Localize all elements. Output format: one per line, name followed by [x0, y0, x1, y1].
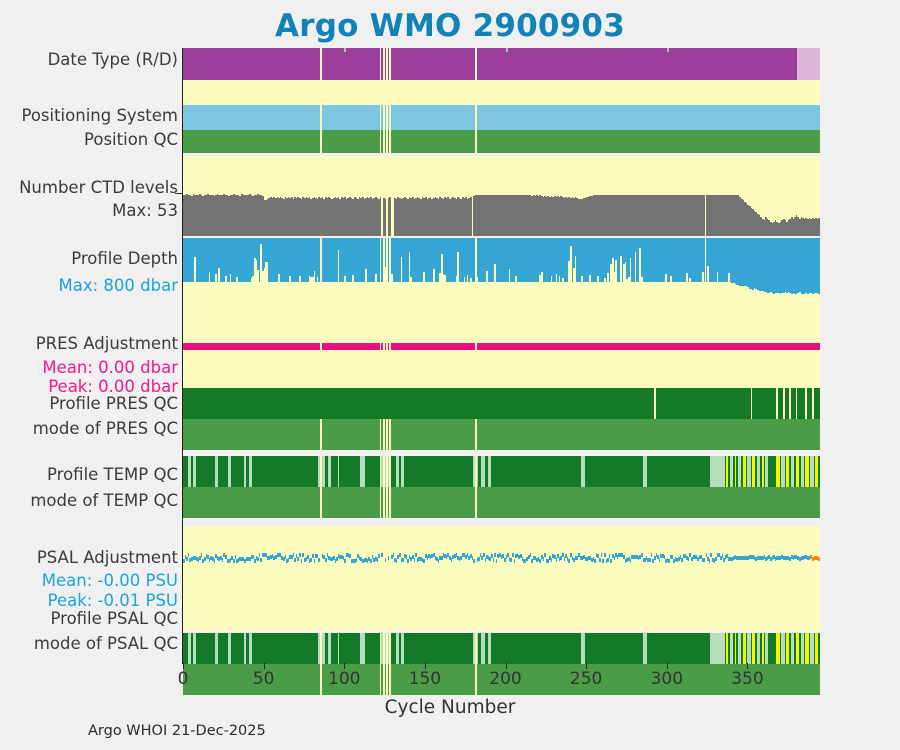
psal-adjustment-point	[496, 559, 498, 563]
x-tick-mark	[506, 663, 507, 669]
gridline	[667, 48, 669, 663]
x-tick-mark	[183, 663, 184, 669]
band-segment	[404, 456, 473, 487]
x-tick-mark	[667, 663, 668, 669]
band-segment	[388, 487, 390, 518]
band-segment	[381, 343, 383, 350]
band-segment	[322, 343, 380, 350]
band-segment	[339, 456, 360, 487]
psal-adjustment-point	[568, 559, 570, 563]
psal-adjustment-point	[514, 559, 516, 563]
x-tick-mark	[425, 663, 426, 669]
psal-adjustment-point	[659, 558, 661, 562]
profile-pres-qc-band	[183, 388, 820, 419]
psal-adjustment-point	[818, 557, 820, 561]
date-type-band	[183, 48, 820, 80]
psal-adjustment-point	[651, 553, 653, 557]
profile-depth-bar	[385, 238, 387, 267]
band-segment	[365, 633, 380, 664]
band-segment	[318, 633, 320, 664]
band-segment	[388, 343, 390, 350]
band-segment	[710, 633, 725, 664]
x-tick-label: 0	[178, 669, 189, 689]
band-segment	[388, 456, 390, 487]
psal-adjustment-point	[609, 554, 611, 558]
psal-adjustment-point	[233, 559, 235, 563]
band-segment	[322, 105, 380, 130]
psal-adjustment-point	[710, 553, 712, 557]
psal-adjustment-point	[407, 559, 409, 563]
label-pres-adjustment: PRES Adjustment	[36, 335, 178, 352]
profile-depth-bar	[381, 238, 383, 282]
label-number-ctd-levels: Number CTD levels	[19, 179, 178, 196]
band-segment	[183, 105, 320, 130]
band-segment	[391, 487, 475, 518]
psal-adjustment-point	[214, 559, 216, 563]
band-segment	[477, 130, 820, 153]
band-segment	[477, 664, 820, 695]
band-segment	[391, 130, 475, 153]
psal-adjustment-point	[399, 553, 401, 557]
band-segment	[231, 633, 244, 664]
band-segment	[183, 664, 320, 695]
band-segment	[322, 130, 380, 153]
band-segment	[381, 487, 383, 518]
psal-adjustment-point	[510, 558, 512, 562]
psal-adjustment-point	[604, 553, 606, 557]
x-axis-label: Cycle Number	[0, 697, 900, 718]
psal-adjustment-point	[325, 558, 327, 562]
psal-adjustment-point	[186, 557, 188, 561]
band-segment	[381, 419, 383, 450]
psal-adjustment-point	[415, 553, 417, 557]
label-mode-psal-qc: mode of PSAL QC	[34, 635, 178, 652]
psal-adjustment-point	[652, 559, 654, 563]
band-segment	[183, 130, 320, 153]
psal-adjustment-point	[594, 559, 596, 563]
band-segment	[391, 105, 475, 130]
band-segment	[388, 105, 390, 130]
band-segment	[752, 388, 776, 419]
psal-adjustment-point	[610, 559, 612, 563]
x-tick-label: 100	[328, 669, 360, 689]
psal-adjustment-point	[599, 558, 601, 562]
band-segment	[391, 343, 475, 350]
band-segment	[385, 487, 386, 518]
psal-adjustment-point	[564, 557, 566, 561]
psal-adjustment-point	[183, 559, 185, 563]
positioning-system-band	[183, 105, 820, 130]
psal-adjustment-point	[294, 558, 296, 562]
band-segment	[477, 105, 820, 130]
psal-adjustment-point	[222, 558, 224, 562]
psal-adjustment-point	[393, 553, 395, 557]
label-date-type: Date Type (R/D)	[48, 51, 178, 68]
label-position-qc: Position QC	[84, 131, 178, 148]
band-segment	[388, 130, 390, 153]
psal-adjustment-point	[544, 553, 546, 557]
x-tick-label: 150	[409, 669, 441, 689]
x-tick-mark	[344, 663, 345, 669]
psal-adjustment-point	[483, 553, 485, 557]
label-profile-pres-qc: Profile PRES QC	[49, 395, 178, 412]
profile-depth-bar	[388, 238, 390, 282]
psal-adjustment-point	[307, 555, 309, 559]
label-depth-max: Max: 800 dbar	[59, 277, 179, 294]
psal-adjustment-point	[310, 558, 312, 562]
psal-adjustment-point	[388, 556, 390, 560]
profile-depth-bar	[378, 238, 380, 282]
psal-adjustment-point	[551, 558, 553, 562]
band-segment	[768, 456, 776, 487]
band-segment	[385, 664, 386, 695]
ctd-level-bar	[389, 197, 391, 236]
x-tick-label: 350	[731, 669, 763, 689]
band-segment	[477, 419, 820, 450]
band-segment	[656, 388, 751, 419]
psal-adjustment-point	[402, 558, 404, 562]
band-segment	[381, 456, 383, 487]
ctd-level-bar	[385, 199, 387, 237]
psal-adjustment-point	[356, 558, 358, 562]
band-segment	[322, 419, 380, 450]
label-profile-depth: Profile Depth	[71, 250, 178, 267]
band-segment	[477, 487, 820, 518]
x-tick-mark	[264, 663, 265, 669]
ctd-level-bar	[470, 197, 472, 236]
band-segment	[197, 388, 654, 419]
band-segment	[473, 456, 475, 487]
band-segment	[477, 48, 798, 80]
band-segment	[218, 456, 228, 487]
psal-adjustment-point	[494, 553, 496, 557]
profile-depth-bar	[473, 238, 475, 282]
band-segment	[322, 487, 380, 518]
panel-temp-qc	[183, 456, 820, 518]
gridline	[344, 48, 346, 663]
profile-psal-qc-band	[183, 633, 820, 664]
psal-adjustment-point	[385, 558, 387, 562]
band-segment	[196, 633, 215, 664]
panel-date-position	[183, 48, 820, 153]
band-segment	[252, 456, 318, 487]
band-segment	[183, 343, 320, 350]
psal-adjustment-point	[201, 553, 203, 557]
psal-adjustment-point	[423, 559, 425, 563]
psal-adjustment-point	[318, 558, 320, 562]
band-segment	[183, 48, 320, 80]
band-segment	[391, 419, 475, 450]
psal-adjustment-point	[681, 558, 683, 562]
band-segment	[196, 456, 215, 487]
profile-temp-qc-band	[183, 456, 820, 487]
psal-adjustment-point	[602, 559, 604, 563]
band-segment	[381, 664, 383, 695]
label-pres-peak: Peak: 0.00 dbar	[48, 378, 178, 395]
psal-adjustment-point	[688, 557, 690, 561]
gridline	[506, 48, 508, 663]
band-segment	[778, 388, 783, 419]
psal-adjustment-point	[630, 559, 632, 563]
psal-adjustment-point	[451, 558, 453, 562]
band-segment	[252, 633, 318, 664]
ctd-level-bar	[380, 197, 382, 236]
argo-profile-plot	[183, 48, 820, 663]
psal-adjustment-point	[312, 554, 314, 558]
band-segment	[391, 48, 475, 80]
panel-number-ctd-levels	[183, 156, 820, 236]
psal-adjustment-point	[493, 558, 495, 562]
psal-adjustment-point	[299, 553, 301, 557]
psal-adjustment-point	[235, 555, 237, 559]
band-segment	[388, 633, 390, 664]
band-segment	[585, 633, 643, 664]
band-segment	[322, 48, 380, 80]
label-profile-temp-qc: Profile TEMP QC	[47, 466, 178, 483]
psal-adjustment-point	[543, 557, 545, 561]
psal-adjustment-point	[704, 558, 706, 562]
footer-credit: Argo WHOI 21-Dec-2025	[88, 723, 266, 739]
band-segment	[818, 633, 820, 664]
psal-adjustment-point	[349, 554, 351, 558]
psal-adjustment-point	[370, 559, 372, 563]
band-segment	[385, 456, 386, 487]
x-tick-label: 250	[570, 669, 602, 689]
psal-adjustment-point	[259, 553, 261, 557]
psal-adjustment-point	[530, 553, 532, 557]
label-positioning-system: Positioning System	[21, 107, 178, 124]
band-segment	[318, 456, 320, 487]
panel-psal-adjustment	[183, 526, 820, 631]
band-segment	[385, 343, 386, 350]
band-segment	[473, 633, 475, 664]
label-psal-adjustment: PSAL Adjustment	[37, 549, 178, 566]
band-segment	[183, 419, 320, 450]
band-segment	[647, 456, 710, 487]
band-segment	[231, 456, 244, 487]
label-mode-temp-qc: mode of TEMP QC	[30, 492, 178, 509]
x-tick-label: 50	[253, 669, 275, 689]
psal-adjustment-point	[473, 559, 475, 563]
band-segment	[385, 105, 386, 130]
band-segment	[388, 419, 390, 450]
psal-adjustment-point	[302, 553, 304, 557]
psal-adjustment-point	[301, 559, 303, 563]
psal-adjustment-point	[314, 559, 316, 563]
mode-temp-qc-band	[183, 487, 820, 518]
pres-adjustment-line	[183, 343, 820, 350]
psal-adjustment-point	[649, 558, 651, 562]
band-segment	[385, 419, 386, 450]
psal-adjustment-point	[257, 557, 259, 561]
x-tick-label: 300	[651, 669, 683, 689]
band-segment	[797, 388, 805, 419]
band-segment	[785, 388, 790, 419]
band-segment	[381, 48, 383, 80]
band-segment	[791, 388, 796, 419]
band-segment	[381, 130, 383, 153]
band-segment	[585, 456, 643, 487]
psal-adjustment-point	[607, 558, 609, 562]
band-segment	[797, 48, 820, 80]
psal-adjustment-point	[381, 553, 383, 557]
psal-adjustment-point	[539, 559, 541, 563]
profile-depth-bar	[259, 238, 261, 282]
band-segment	[218, 633, 228, 664]
profile-depth-bar	[818, 238, 820, 294]
psal-adjustment-point	[260, 558, 262, 562]
x-tick-label: 200	[489, 669, 521, 689]
profile-depth-bar	[318, 238, 320, 282]
psal-adjustment-point	[188, 553, 190, 557]
psal-adjustment-point	[502, 554, 504, 558]
band-segment	[385, 130, 386, 153]
band-segment	[477, 343, 820, 350]
x-tick-mark	[747, 663, 748, 669]
band-segment	[183, 487, 320, 518]
label-ctd-max: Max: 53	[112, 202, 178, 219]
label-psal-mean: Mean: -0.00 PSU	[42, 572, 178, 589]
psal-adjustment-point	[512, 553, 514, 557]
band-segment	[381, 105, 383, 130]
panel-pres-qc	[183, 388, 820, 450]
position-qc-band	[183, 130, 820, 153]
psal-adjustment-point	[414, 558, 416, 562]
label-psal-peak: Peak: -0.01 PSU	[48, 592, 178, 609]
band-segment	[385, 48, 386, 80]
psal-adjustment-point	[297, 557, 299, 561]
band-segment	[818, 456, 820, 487]
band-segment	[807, 388, 812, 419]
page-title: Argo WMO 2900903	[0, 8, 900, 44]
band-segment	[647, 633, 710, 664]
psal-adjustment-point	[601, 553, 603, 557]
band-segment	[365, 456, 380, 487]
band-segment	[814, 388, 820, 419]
band-segment	[388, 664, 390, 695]
band-segment	[388, 48, 390, 80]
psal-adjustment-point	[378, 554, 380, 558]
band-segment	[385, 633, 386, 664]
label-pres-mean: Mean: 0.00 dbar	[42, 359, 178, 376]
band-segment	[768, 633, 776, 664]
band-segment	[404, 633, 473, 664]
band-segment	[381, 633, 383, 664]
x-tick-mark	[586, 663, 587, 669]
psal-adjustment-point	[664, 555, 666, 559]
psal-adjustment-point	[709, 559, 711, 563]
mode-pres-qc-band	[183, 419, 820, 450]
band-segment	[710, 456, 725, 487]
label-mode-pres-qc: mode of PRES QC	[33, 420, 178, 437]
band-segment	[339, 633, 360, 664]
label-profile-psal-qc: Profile PSAL QC	[50, 610, 178, 627]
